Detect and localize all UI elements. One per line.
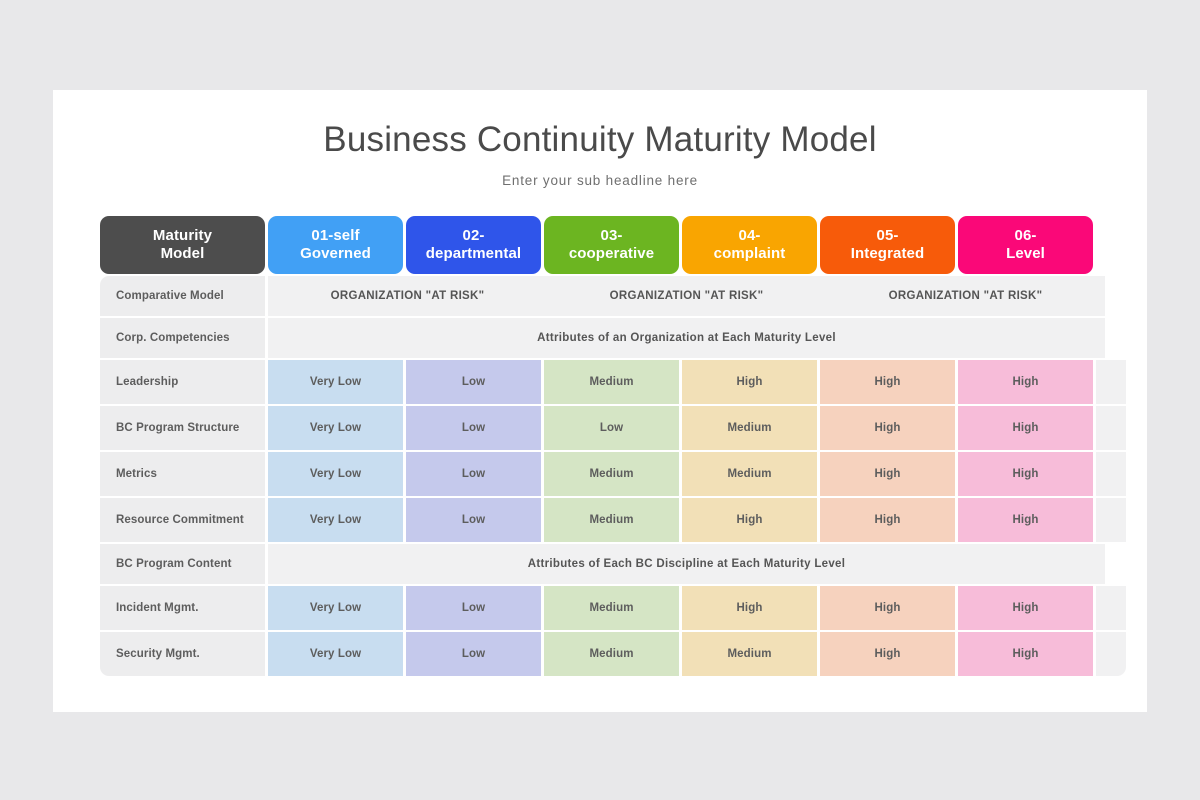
- table-header-row: MaturityModel01-selfGoverned02-departmen…: [100, 216, 1105, 274]
- header-label: 04-complaint: [714, 227, 786, 262]
- data-cell[interactable]: Low: [406, 452, 541, 496]
- data-cell[interactable]: Low: [406, 498, 541, 542]
- row-tail-cell: [1096, 406, 1126, 450]
- data-cell[interactable]: Low: [406, 586, 541, 630]
- banner-text: Attributes of Each BC Discipline at Each…: [528, 558, 845, 570]
- data-cell[interactable]: High: [958, 632, 1093, 676]
- header-label-line1: 06-: [1006, 227, 1045, 245]
- header-label-line2: Model: [153, 245, 212, 263]
- data-cell[interactable]: Very Low: [268, 360, 403, 404]
- header-label-line2: Level: [1006, 245, 1045, 263]
- data-cell[interactable]: Medium: [544, 632, 679, 676]
- data-cell[interactable]: Low: [406, 632, 541, 676]
- maturity-matrix-table: MaturityModel01-selfGoverned02-departmen…: [100, 216, 1105, 678]
- data-cell[interactable]: Medium: [682, 452, 817, 496]
- data-cell[interactable]: Medium: [544, 360, 679, 404]
- row-label[interactable]: BC Program Structure: [100, 406, 265, 450]
- slide-canvas: Business Continuity Maturity Model Enter…: [53, 90, 1147, 712]
- data-cell[interactable]: High: [682, 586, 817, 630]
- header-label-line1: 03-: [569, 227, 654, 245]
- banner-text: Attributes of an Organization at Each Ma…: [537, 332, 836, 344]
- row-tail-cell: [1096, 498, 1126, 542]
- table-row: Corp. CompetenciesAttributes of an Organ…: [100, 318, 1105, 358]
- table-row: LeadershipVery LowLowMediumHighHighHigh: [100, 360, 1105, 404]
- header-label: 01-selfGoverned: [300, 227, 371, 262]
- data-cell[interactable]: Very Low: [268, 586, 403, 630]
- data-cell[interactable]: Medium: [682, 406, 817, 450]
- data-cell[interactable]: Very Low: [268, 406, 403, 450]
- data-cell[interactable]: Medium: [544, 498, 679, 542]
- data-cell[interactable]: Medium: [544, 452, 679, 496]
- header-label-line1: 04-: [714, 227, 786, 245]
- table-row: Resource CommitmentVery LowLowMediumHigh…: [100, 498, 1105, 542]
- table-row: Security Mgmt.Very LowLowMediumMediumHig…: [100, 632, 1105, 676]
- data-cell[interactable]: High: [820, 632, 955, 676]
- data-cell[interactable]: Low: [406, 360, 541, 404]
- header-label-line2: departmental: [426, 245, 521, 263]
- data-cell[interactable]: High: [820, 498, 955, 542]
- page-title: Business Continuity Maturity Model: [53, 120, 1147, 160]
- row-label[interactable]: Corp. Competencies: [100, 318, 265, 358]
- table-row: BC Program ContentAttributes of Each BC …: [100, 544, 1105, 584]
- row-label[interactable]: Leadership: [100, 360, 265, 404]
- data-cell[interactable]: High: [820, 406, 955, 450]
- row-tail-cell: [1096, 632, 1126, 676]
- header-level-4[interactable]: 04-complaint: [682, 216, 817, 274]
- header-level-6[interactable]: 06-Level: [958, 216, 1093, 274]
- data-cell[interactable]: High: [682, 360, 817, 404]
- data-cell[interactable]: High: [820, 586, 955, 630]
- data-cell[interactable]: High: [958, 586, 1093, 630]
- header-label-line2: cooperative: [569, 245, 654, 263]
- header-level-5[interactable]: 05-Integrated: [820, 216, 955, 274]
- data-cell[interactable]: High: [820, 360, 955, 404]
- row-tail-cell: [1096, 452, 1126, 496]
- header-label-line2: Integrated: [851, 245, 925, 263]
- header-label-line1: 02-: [426, 227, 521, 245]
- data-cell[interactable]: Very Low: [268, 498, 403, 542]
- data-cell[interactable]: Very Low: [268, 632, 403, 676]
- header-label-line2: Governed: [300, 245, 371, 263]
- row-tail-cell: [1096, 586, 1126, 630]
- header-level-3[interactable]: 03-cooperative: [544, 216, 679, 274]
- data-cell[interactable]: Medium: [682, 632, 817, 676]
- row-tail-cell: [1096, 360, 1126, 404]
- data-cell[interactable]: High: [958, 406, 1093, 450]
- row-label[interactable]: Resource Commitment: [100, 498, 265, 542]
- header-label: 06-Level: [1006, 227, 1045, 262]
- header-label: MaturityModel: [153, 227, 212, 262]
- header-label-line1: 01-self: [300, 227, 371, 245]
- table-row: Incident Mgmt.Very LowLowMediumHighHighH…: [100, 586, 1105, 630]
- table-row: MetricsVery LowLowMediumMediumHighHigh: [100, 452, 1105, 496]
- banner-segment: ORGANIZATION "AT RISK": [268, 290, 547, 302]
- page-subtitle: Enter your sub headline here: [53, 173, 1147, 188]
- row-label[interactable]: Metrics: [100, 452, 265, 496]
- header-label: 03-cooperative: [569, 227, 654, 262]
- header-level-1[interactable]: 01-selfGoverned: [268, 216, 403, 274]
- table-row: Comparative ModelORGANIZATION "AT RISK"O…: [100, 276, 1105, 316]
- data-cell[interactable]: Low: [544, 406, 679, 450]
- header-maturity-model[interactable]: MaturityModel: [100, 216, 265, 274]
- header-label: 05-Integrated: [851, 227, 925, 262]
- header-label-line1: Maturity: [153, 227, 212, 245]
- header-label-line2: complaint: [714, 245, 786, 263]
- header-label: 02-departmental: [426, 227, 521, 262]
- row-banner: Attributes of an Organization at Each Ma…: [268, 318, 1105, 358]
- banner-segment: ORGANIZATION "AT RISK": [826, 290, 1105, 302]
- banner-segment: ORGANIZATION "AT RISK": [547, 290, 826, 302]
- row-label[interactable]: BC Program Content: [100, 544, 265, 584]
- data-cell[interactable]: High: [958, 360, 1093, 404]
- row-banner: Attributes of Each BC Discipline at Each…: [268, 544, 1105, 584]
- table-row: BC Program StructureVery LowLowLowMedium…: [100, 406, 1105, 450]
- data-cell[interactable]: Medium: [544, 586, 679, 630]
- data-cell[interactable]: Very Low: [268, 452, 403, 496]
- row-label[interactable]: Security Mgmt.: [100, 632, 265, 676]
- header-label-line1: 05-: [851, 227, 925, 245]
- data-cell[interactable]: High: [820, 452, 955, 496]
- data-cell[interactable]: High: [958, 452, 1093, 496]
- row-banner-split: ORGANIZATION "AT RISK"ORGANIZATION "AT R…: [268, 276, 1105, 316]
- header-tail-spacer: [1096, 216, 1126, 274]
- data-cell[interactable]: High: [682, 498, 817, 542]
- data-cell[interactable]: Low: [406, 406, 541, 450]
- data-cell[interactable]: High: [958, 498, 1093, 542]
- row-label[interactable]: Comparative Model: [100, 276, 265, 316]
- row-label[interactable]: Incident Mgmt.: [100, 586, 265, 630]
- header-level-2[interactable]: 02-departmental: [406, 216, 541, 274]
